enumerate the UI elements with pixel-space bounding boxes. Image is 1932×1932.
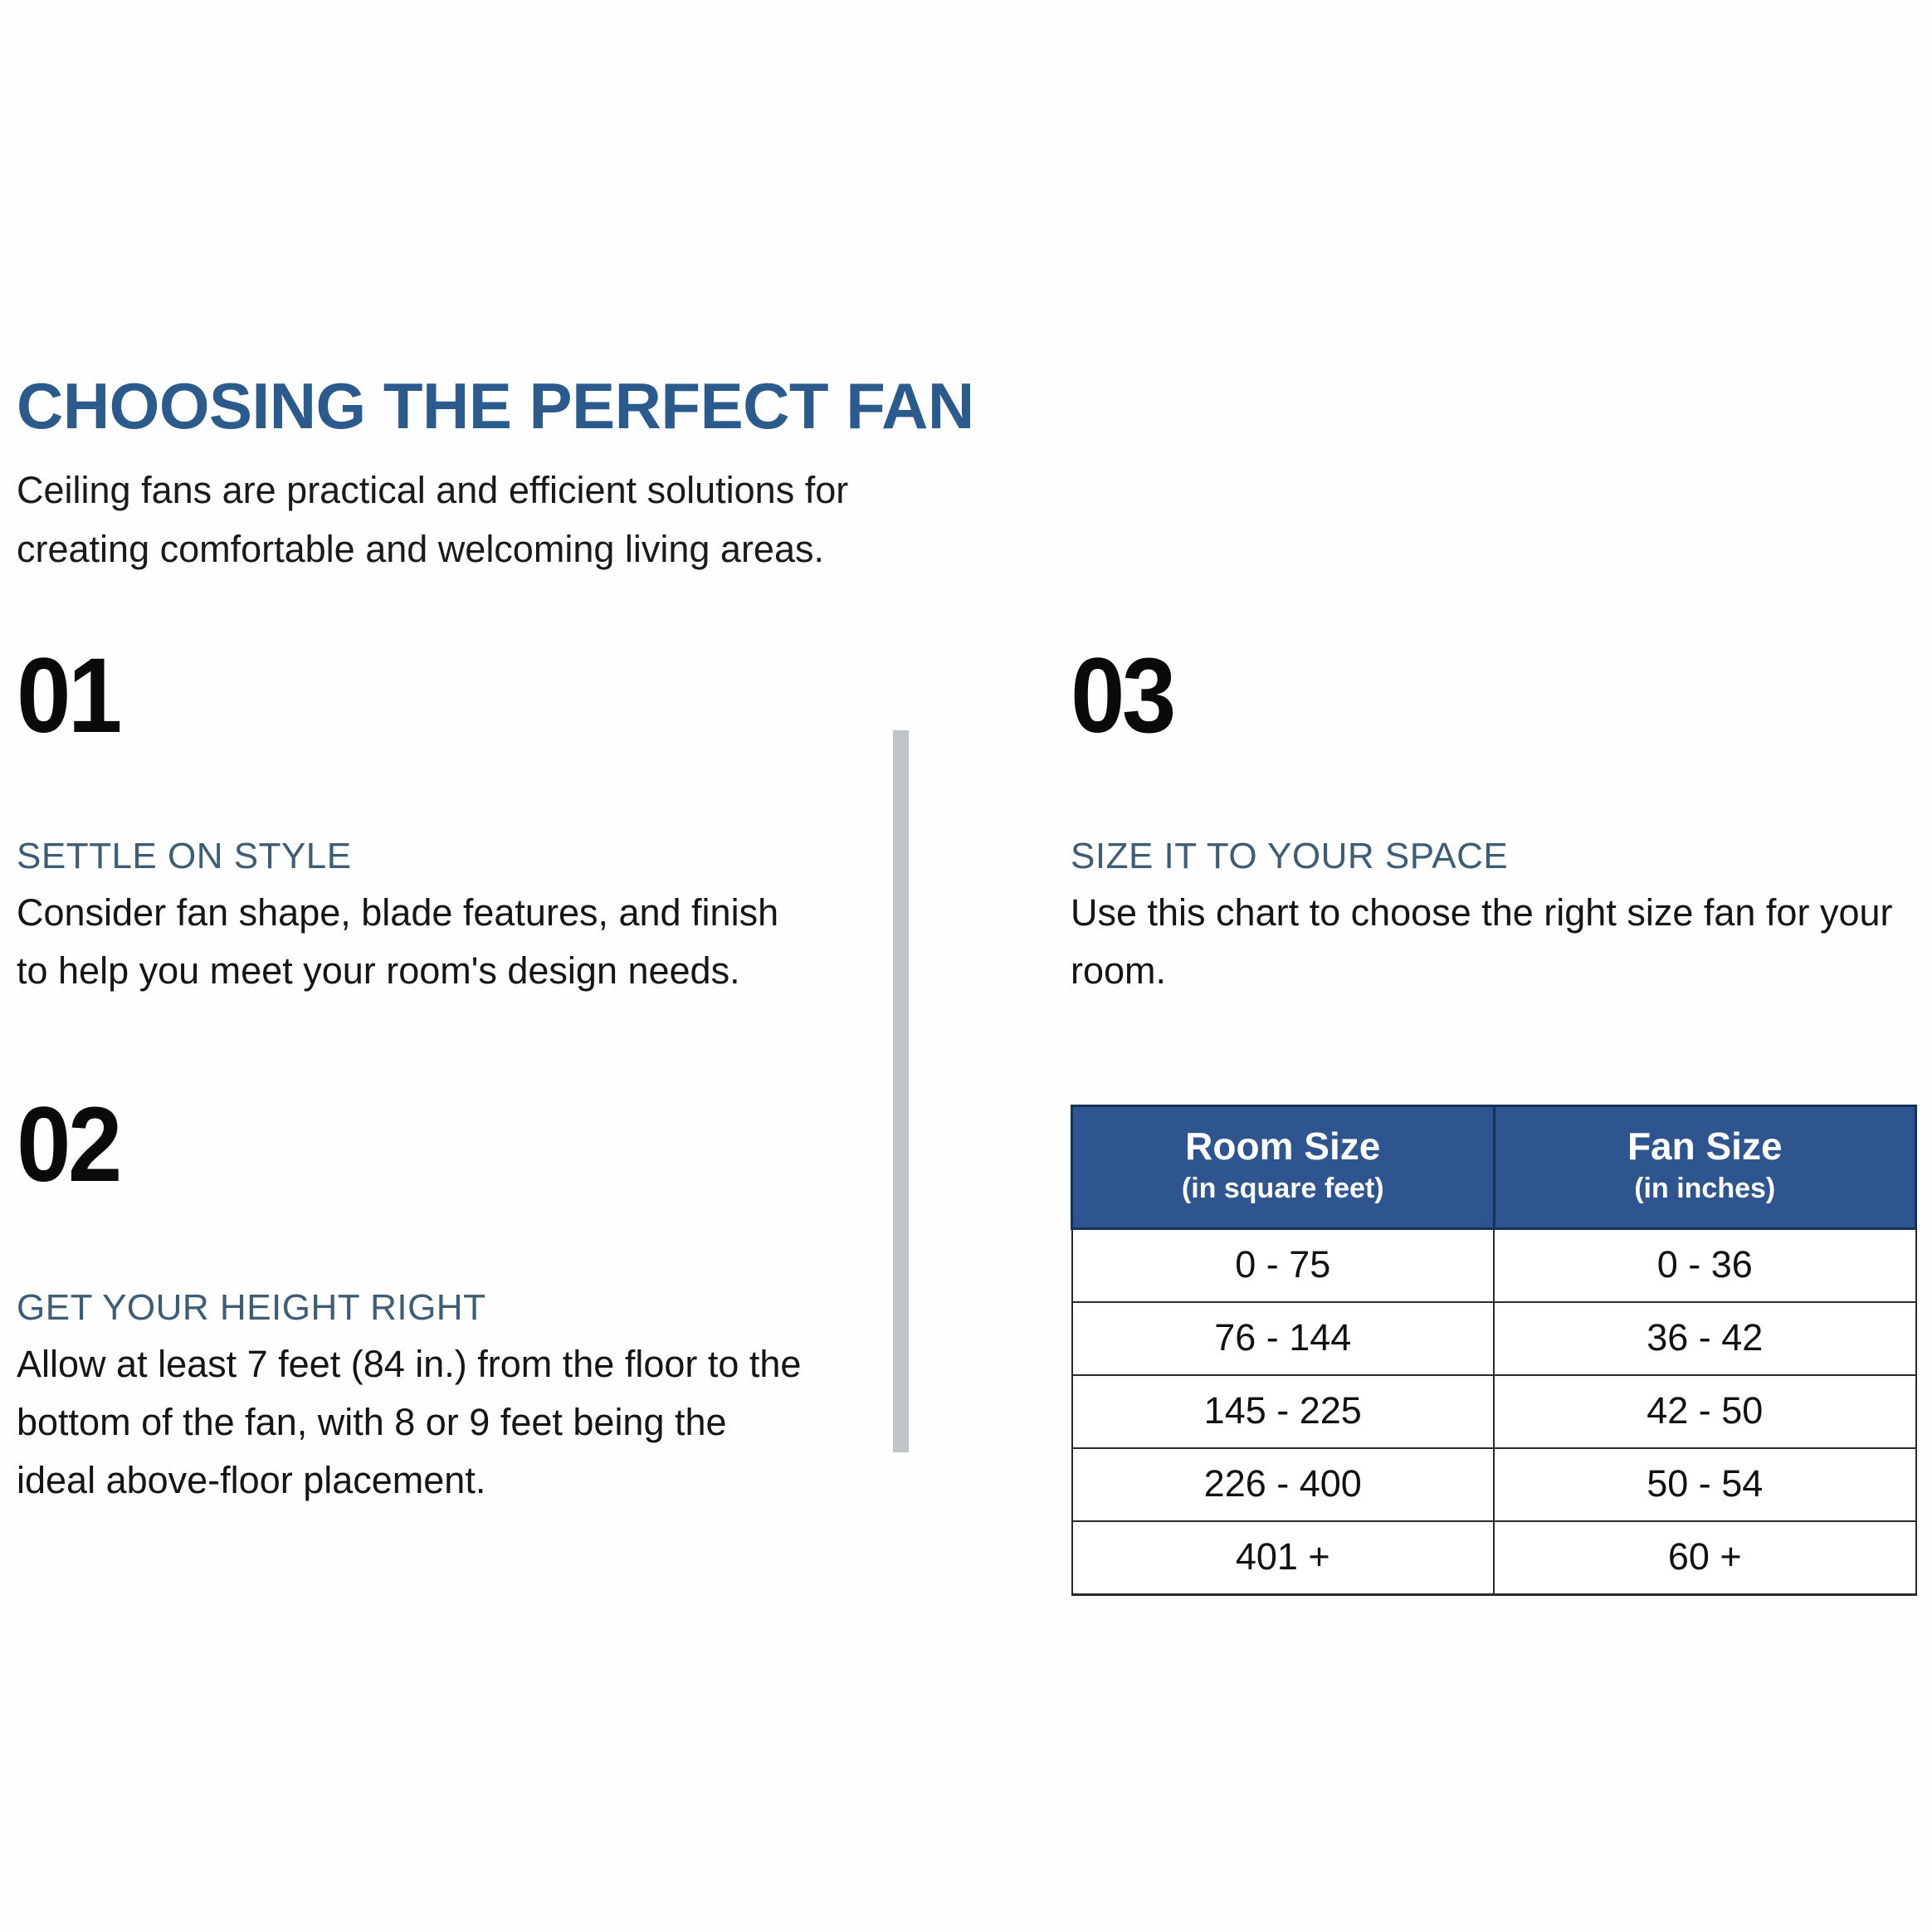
cell-fan-size: 42 - 50 [1494, 1375, 1916, 1448]
column-header-fan-size: Fan Size (in inches) [1494, 1106, 1916, 1229]
column-header-room-size-unit: (in square feet) [1078, 1171, 1488, 1207]
page-title: CHOOSING THE PERFECT FAN [17, 373, 974, 438]
table-row: 0 - 75 0 - 36 [1072, 1229, 1916, 1303]
cell-fan-size: 36 - 42 [1494, 1302, 1916, 1375]
column-header-room-size: Room Size (in square feet) [1072, 1106, 1495, 1229]
cell-fan-size: 0 - 36 [1494, 1229, 1916, 1303]
step-number-03: 03 [1071, 647, 1857, 745]
table-header-row: Room Size (in square feet) Fan Size (in … [1072, 1106, 1916, 1229]
step-subhead-01: SETTLE ON STYLE [17, 835, 813, 879]
step-block-02: 02 GET YOUR HEIGHT RIGHT Allow at least … [17, 1096, 813, 1510]
step-number-01: 01 [17, 647, 749, 745]
table-row: 76 - 144 36 - 42 [1072, 1302, 1916, 1375]
intro-paragraph: Ceiling fans are practical and efficient… [17, 461, 946, 578]
fan-size-table: Room Size (in square feet) Fan Size (in … [1071, 1105, 1917, 1596]
table-row: 226 - 400 50 - 54 [1072, 1448, 1916, 1521]
column-divider [893, 730, 909, 1452]
step-subhead-03: SIZE IT TO YOUR SPACE [1071, 835, 1925, 879]
cell-room-size: 76 - 144 [1072, 1302, 1495, 1375]
step-number-02: 02 [17, 1096, 749, 1194]
cell-fan-size: 60 + [1494, 1521, 1916, 1595]
step-subhead-02: GET YOUR HEIGHT RIGHT [17, 1286, 813, 1330]
table-header: Room Size (in square feet) Fan Size (in … [1072, 1106, 1916, 1229]
cell-fan-size: 50 - 54 [1494, 1448, 1916, 1521]
column-header-fan-size-main: Fan Size [1500, 1125, 1910, 1168]
page-canvas: CHOOSING THE PERFECT FAN Ceiling fans ar… [0, 0, 1932, 1932]
column-header-fan-size-unit: (in inches) [1500, 1171, 1910, 1207]
step-body-03: Use this chart to choose the right size … [1071, 884, 1925, 1000]
step-block-03: 03 SIZE IT TO YOUR SPACE Use this chart … [1071, 647, 1925, 1000]
cell-room-size: 0 - 75 [1072, 1229, 1495, 1303]
step-body-01: Consider fan shape, blade features, and … [17, 884, 813, 1000]
table-row: 401 + 60 + [1072, 1521, 1916, 1595]
cell-room-size: 226 - 400 [1072, 1448, 1495, 1521]
step-body-02: Allow at least 7 feet (84 in.) from the … [17, 1335, 813, 1510]
table-row: 145 - 225 42 - 50 [1072, 1375, 1916, 1448]
left-column: 01 SETTLE ON STYLE Consider fan shape, b… [17, 647, 813, 1510]
cell-room-size: 401 + [1072, 1521, 1495, 1595]
step-block-01: 01 SETTLE ON STYLE Consider fan shape, b… [17, 647, 813, 1000]
column-header-room-size-main: Room Size [1078, 1125, 1488, 1168]
right-column: 03 SIZE IT TO YOUR SPACE Use this chart … [1071, 647, 1925, 1000]
cell-room-size: 145 - 225 [1072, 1375, 1495, 1448]
table-body: 0 - 75 0 - 36 76 - 144 36 - 42 145 - 225… [1072, 1229, 1916, 1595]
